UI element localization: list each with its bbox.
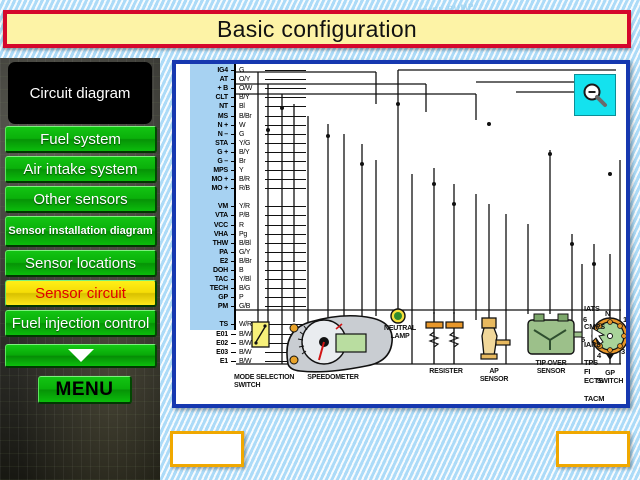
right-terminal-label: TACM bbox=[584, 394, 604, 403]
sidebar-item-sensor-installation-diagram[interactable]: Sensor installation diagram bbox=[5, 216, 157, 247]
right-terminal-label: CKPS bbox=[584, 403, 604, 408]
circuit-diagram: IG4GATO/Y+ BO/WCLTB/YNTBlMSB/BrN +WN –GS… bbox=[176, 64, 626, 404]
sidebar-item-label: Fuel system bbox=[40, 132, 121, 147]
label-speedometer: SPEEDOMETER bbox=[290, 374, 376, 382]
menu-button[interactable]: MENU bbox=[38, 376, 132, 404]
sidebar-item-label: Fuel injection control bbox=[12, 316, 150, 331]
gp-switch-position: 2 bbox=[627, 331, 630, 340]
page-title-bar: Basic configuration bbox=[3, 10, 631, 48]
right-terminal-label: IATS bbox=[584, 304, 600, 313]
sidebar-item-label: Sensor circuit bbox=[35, 286, 126, 301]
sidebar-scroll-down-button[interactable] bbox=[5, 344, 157, 368]
app-root: FUEL PUMP Basic configuration Circuit di… bbox=[0, 0, 640, 480]
sidebar-item-air-intake-system[interactable]: Air intake system bbox=[5, 156, 157, 183]
sidebar-item-other-sensors[interactable]: Other sensors bbox=[5, 186, 157, 213]
sidebar-item-label: Air intake system bbox=[23, 162, 137, 177]
page-title: Basic configuration bbox=[217, 16, 417, 43]
label-ap-sensor: APSENSOR bbox=[472, 368, 516, 384]
sidebar-item-label: Sensor installation diagram bbox=[8, 225, 152, 238]
right-terminal-label: ECTS bbox=[584, 376, 603, 385]
sidebar-panel-title: Circuit diagram bbox=[8, 62, 152, 124]
circuit-diagram-frame: IG4GATO/Y+ BO/WCLTB/YNTBlMSB/BrN +WN –GS… bbox=[172, 60, 630, 408]
right-terminal-label: TPS bbox=[584, 358, 598, 367]
right-terminal-label: IAPS bbox=[584, 340, 601, 349]
menu-button-label: MENU bbox=[56, 380, 114, 399]
mode-selection-switch-symbol bbox=[252, 322, 269, 347]
component-symbols bbox=[176, 64, 626, 404]
sidebar-item-label: Other sensors bbox=[33, 192, 127, 207]
label-tip-over-sensor: TIP OVERSENSOR bbox=[524, 360, 578, 376]
sidebar-item-sensor-circuit[interactable]: Sensor circuit bbox=[5, 280, 157, 307]
sidebar-item-fuel-injection-control[interactable]: Fuel injection control bbox=[5, 310, 157, 337]
label-neutral-lamp: NEUTRALLAMP bbox=[374, 325, 426, 341]
nav-next-button[interactable] bbox=[556, 431, 630, 467]
sidebar-item-label: Sensor locations bbox=[25, 256, 136, 271]
gp-switch-position: N bbox=[605, 309, 610, 318]
triangle-down-icon bbox=[68, 349, 94, 362]
sidebar-item-sensor-locations[interactable]: Sensor locations bbox=[5, 250, 157, 277]
nav-prev-button[interactable] bbox=[170, 431, 244, 467]
label-resister: RESISTER bbox=[418, 368, 474, 376]
gp-switch-position: 3 bbox=[621, 347, 625, 356]
gp-switch-position: 1 bbox=[623, 315, 627, 324]
right-terminal-label: CMPS bbox=[584, 322, 605, 331]
neutral-lamp-symbol bbox=[391, 309, 405, 323]
magnifier-minus-icon[interactable] bbox=[574, 74, 616, 116]
tip-over-sensor-symbol bbox=[528, 314, 582, 354]
resister-symbol-2 bbox=[446, 312, 463, 364]
sidebar-item-fuel-system[interactable]: Fuel system bbox=[5, 126, 157, 153]
magnifier-minus-glyph bbox=[582, 82, 608, 108]
ap-sensor-symbol bbox=[481, 318, 510, 359]
right-terminal-label: FI bbox=[584, 367, 590, 376]
sidebar: Circuit diagram Fuel system Air intake s… bbox=[0, 58, 160, 480]
resister-symbol-1 bbox=[426, 312, 443, 364]
